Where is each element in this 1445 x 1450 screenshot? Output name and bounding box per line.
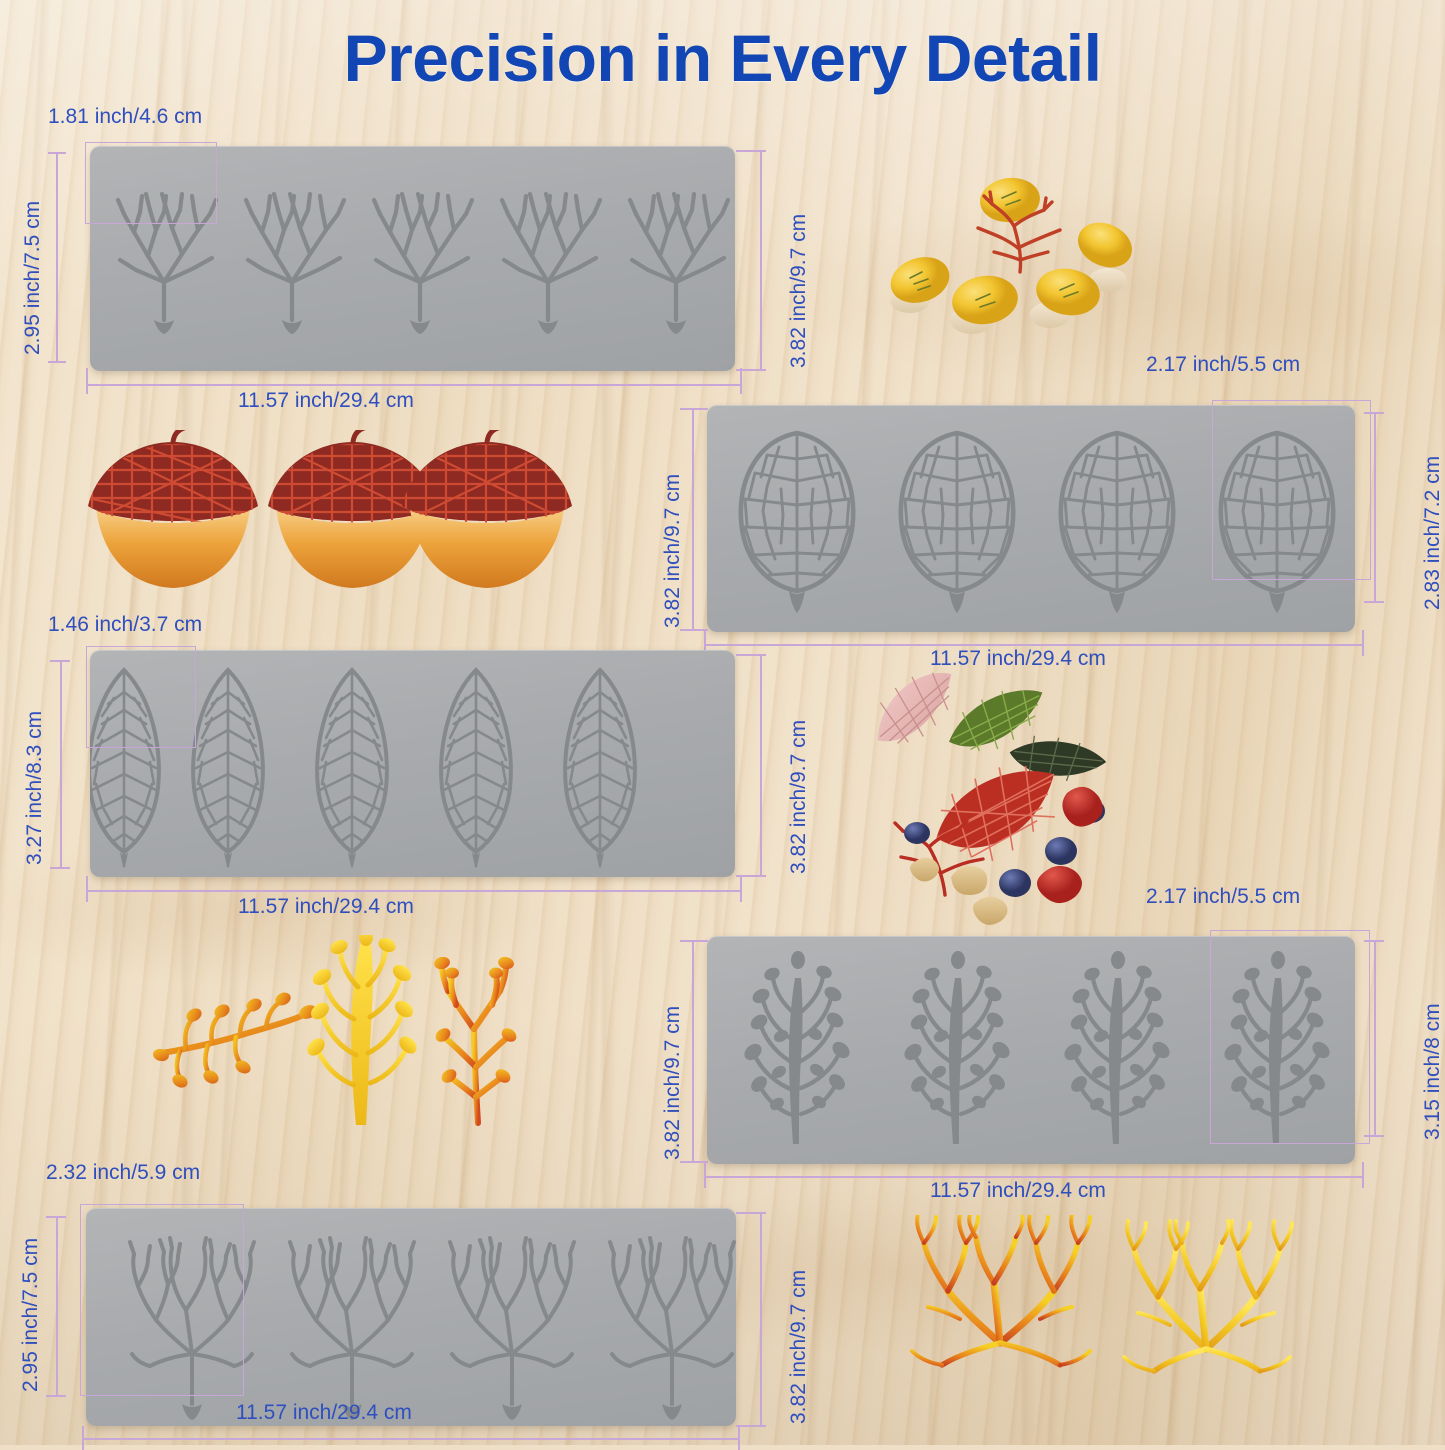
skeleton-leaf-cavity-height-label: 3.27 inch/8.3 cm (22, 711, 47, 865)
skeleton-leaf-mold-height-line (760, 654, 762, 876)
skeleton-leaf-cavity-dimension-box (86, 646, 196, 748)
skeleton-leaf-mold-width-tick-left (86, 876, 88, 902)
seaweed-mold-width-tick-right (1362, 1162, 1364, 1188)
coral-mold-width-label: 11.57 inch/29.4 cm (236, 1400, 412, 1425)
large-coral-photo (900, 1215, 1330, 1425)
veined-leaf-mold-height-tick-top (680, 408, 708, 410)
seaweed-cavity-width-label: 2.17 inch/5.5 cm (1146, 884, 1300, 909)
seaweed-cavity-height-label: 3.15 inch/8 cm (1420, 1003, 1445, 1140)
seaweed-cavity-dimension-box (1210, 930, 1370, 1144)
skeleton-leaf-cavity-height-tick-top (50, 660, 70, 662)
coral-mold-height-tick-top (736, 1212, 766, 1214)
skeleton-leaf-cavity-height-line (60, 660, 62, 868)
seaweed-cavity-height-tick-bottom (1364, 1135, 1384, 1137)
branch-mold-height-label: 3.82 inch/9.7 cm (786, 214, 811, 368)
skeleton-leaf-cavity-height-tick-bottom (50, 867, 70, 869)
branch-mold-width-label: 11.57 inch/29.4 cm (238, 388, 414, 413)
branch-cavity-height-line (56, 152, 58, 362)
yellow-coral-sprigs-photo (150, 935, 550, 1135)
skeleton-leaf-cavity-width-label: 1.46 inch/3.7 cm (48, 612, 202, 637)
branch-cavity-width-label: 1.81 inch/4.6 cm (48, 104, 202, 129)
coral-mold-width-tick-right (738, 1426, 740, 1450)
veined-leaf-mold-height-line (692, 408, 694, 630)
seaweed-cavity-height-tick-top (1364, 940, 1384, 942)
skeleton-leaf-mold-width-tick-right (740, 876, 742, 902)
coral-cavity-height-line (56, 1216, 58, 1396)
veined-leaf-mold-height-label: 3.82 inch/9.7 cm (660, 474, 685, 628)
seaweed-mold-height-tick-top (680, 940, 708, 942)
branch-mold-width-tick-left (86, 368, 88, 394)
coral-mold-height-tick-bottom (736, 1425, 766, 1427)
veined-leaf-cavity-height-label: 2.83 inch/7.2 cm (1420, 456, 1445, 610)
veined-leaf-cavity-dimension-box (1212, 400, 1371, 580)
coral-mold-width-tick-left (82, 1426, 84, 1450)
large-coral-image (900, 1215, 1330, 1425)
yellow-coral-sprigs-image (150, 935, 550, 1135)
coral-cavity-dimension-box (80, 1204, 244, 1396)
seaweed-mold-height-line (692, 940, 694, 1162)
branch-mold-width-line (86, 384, 741, 386)
skeleton-leaf-mold-height-label: 3.82 inch/9.7 cm (786, 720, 811, 874)
seaweed-mold-width-label: 11.57 inch/29.4 cm (930, 1178, 1106, 1203)
branch-cavity-height-tick-bottom (48, 361, 66, 363)
seaweed-cavity-height-line (1374, 940, 1376, 1136)
yellow-discs-photo (880, 160, 1150, 345)
plated-dessert-photo (855, 665, 1155, 925)
plated-dessert-image (855, 665, 1155, 925)
coral-cavity-height-tick-bottom (46, 1395, 66, 1397)
seaweed-mold-height-label: 3.82 inch/9.7 cm (660, 1006, 685, 1160)
veined-leaf-cavity-height-tick-top (1364, 412, 1384, 414)
branch-cavity-height-label: 2.95 inch/7.5 cm (20, 201, 45, 355)
veined-leaf-mold-width-tick-right (1362, 630, 1364, 656)
coral-cavity-height-tick-top (46, 1216, 66, 1218)
coral-cavity-width-label: 2.32 inch/5.9 cm (46, 1160, 200, 1185)
yellow-discs-image (880, 160, 1150, 345)
coral-mold-height-label: 3.82 inch/9.7 cm (786, 1270, 811, 1424)
branch-mold-height-line (760, 150, 762, 370)
skeleton-leaf-mold-width-line (86, 890, 741, 892)
page-title: Precision in Every Detail (0, 22, 1445, 94)
branch-mold-width-tick-right (740, 368, 742, 394)
acorn-photo (70, 430, 590, 610)
coral-mold-height-line (760, 1212, 762, 1426)
coral-cavity-height-label: 2.95 inch/7.5 cm (18, 1238, 43, 1392)
branch-cavity-dimension-box (85, 142, 217, 224)
skeleton-leaf-mold-width-label: 11.57 inch/29.4 cm (238, 894, 414, 919)
veined-leaf-cavity-height-tick-bottom (1364, 601, 1384, 603)
veined-leaf-cavity-height-line (1374, 412, 1376, 602)
branch-mold-height-tick-top (736, 150, 766, 152)
veined-leaf-cavity-width-label: 2.17 inch/5.5 cm (1146, 352, 1300, 377)
branch-cavity-height-tick-top (48, 152, 66, 154)
coral-mold-width-line (82, 1438, 740, 1440)
skeleton-leaf-mold-height-tick-top (736, 654, 766, 656)
acorn-image (70, 430, 590, 610)
seaweed-mold-width-tick-left (704, 1162, 706, 1188)
